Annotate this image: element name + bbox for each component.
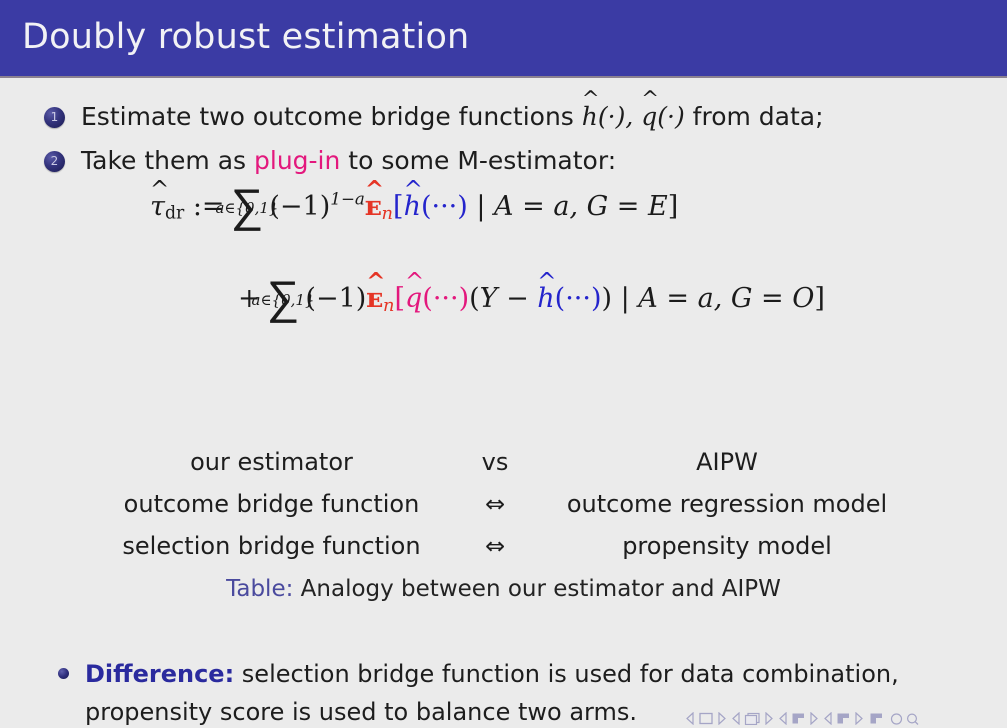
subsection-nav-group[interactable]	[779, 712, 818, 725]
slide-header-underline	[0, 76, 1007, 78]
expectation-symbol-2: ^ᴇ	[366, 283, 383, 314]
hat-accent: ^	[366, 271, 383, 294]
utility-nav-group[interactable]	[890, 712, 919, 725]
coefficient-exponent-1: 1−a	[330, 189, 365, 209]
subsection-forward-icon[interactable]	[809, 712, 818, 725]
doc-block-icon[interactable]	[869, 712, 884, 725]
frame-back-icon[interactable]	[732, 712, 741, 725]
difference-label: Difference:	[85, 660, 234, 688]
hat-accent: ^	[405, 271, 422, 294]
bracket-open-1: [	[393, 191, 404, 222]
bracket-close-2: ]	[814, 283, 825, 314]
h-hat-formula-2: ^h	[537, 283, 554, 314]
coefficient-1: (−1)	[269, 191, 330, 222]
Y-variable: Y	[480, 283, 498, 314]
coefficient-2: (−1)	[305, 283, 366, 314]
q-hat-symbol: ^q	[641, 100, 657, 134]
table-cell-right: propensity model	[551, 525, 903, 567]
presentation-slide: Doubly robust estimation 1 Estimate two …	[0, 0, 1007, 728]
enum-badge-1: 1	[44, 107, 65, 128]
bracket-close-1: ]	[668, 191, 679, 222]
expectation-subscript-1: n	[382, 203, 393, 224]
enumerated-item-2: 2 Take them as plug-in to some M-estimat…	[44, 144, 616, 178]
item2-suffix: to some M-estimator:	[340, 146, 616, 175]
section-nav-group[interactable]	[824, 712, 863, 725]
hat-accent: ^	[641, 89, 657, 110]
analogy-table: our estimator vs AIPW outcome bridge fun…	[0, 441, 1007, 567]
slide-back-icon[interactable]	[686, 712, 695, 725]
enumerated-item-1-text: Estimate two outcome bridge functions ^h…	[81, 100, 824, 134]
document-nav-group[interactable]	[869, 712, 884, 725]
summation-limit-1: a∈{0,1}	[215, 203, 278, 215]
condition-1: | A = a, G = E	[468, 191, 668, 222]
section-back-icon[interactable]	[824, 712, 833, 725]
item1-prefix: Estimate two outcome bridge functions	[81, 102, 582, 131]
difference-line-1: selection bridge function is used for da…	[234, 660, 899, 688]
table-cell-right: AIPW	[551, 441, 903, 483]
hat-accent: ^	[537, 271, 554, 294]
table-caption-spacer	[293, 576, 300, 602]
h-args-2: (···)	[555, 283, 602, 314]
table-row: outcome bridge function ⇔ outcome regres…	[104, 483, 903, 525]
condition-2: | A = a, G = O	[612, 283, 814, 314]
hat-accent: ^	[365, 179, 382, 202]
difference-line-2: propensity score is used to balance two …	[85, 698, 637, 726]
table-cell-left: our estimator	[104, 441, 439, 483]
table-caption-label: Table:	[226, 576, 293, 602]
frame-nav-group[interactable]	[732, 712, 773, 725]
plug-in-highlight: plug-in	[254, 146, 340, 175]
subsection-block-icon[interactable]	[791, 712, 806, 725]
h-args-1: (···)	[421, 191, 468, 222]
beamer-navigation-symbols[interactable]	[686, 712, 919, 725]
frame-forward-icon[interactable]	[764, 712, 773, 725]
slide-forward-icon[interactable]	[717, 712, 726, 725]
item1-q-args: (·)	[657, 102, 684, 131]
back-to-start-icon[interactable]	[890, 712, 903, 725]
item1-suffix: from data;	[685, 102, 824, 131]
find-icon[interactable]	[906, 712, 919, 725]
table-cell-right: outcome regression model	[551, 483, 903, 525]
enumerated-item-1: 1 Estimate two outcome bridge functions …	[44, 100, 824, 134]
item1-h-args: (·),	[598, 102, 641, 131]
hat-accent: ^	[150, 179, 165, 202]
summation-symbol-1: ∑a∈{0,1}	[231, 188, 264, 224]
table-cell-mid: ⇔	[439, 483, 551, 525]
section-forward-icon[interactable]	[854, 712, 863, 725]
h-hat-symbol: ^h	[582, 100, 598, 134]
slide-page-icon[interactable]	[698, 712, 714, 725]
bracket-open-2: [	[394, 283, 405, 314]
q-args: (···)	[422, 283, 469, 314]
frame-stack-icon[interactable]	[744, 712, 761, 725]
subsection-back-icon[interactable]	[779, 712, 788, 725]
table-cell-mid: ⇔	[439, 525, 551, 567]
table-cell-left: selection bridge function	[104, 525, 439, 567]
q-hat-formula: ^q	[405, 283, 422, 314]
expectation-symbol-1: ^ᴇ	[365, 191, 382, 222]
table-cell-left: outcome bridge function	[104, 483, 439, 525]
table-row: selection bridge function ⇔ propensity m…	[104, 525, 903, 567]
minus-operator: −	[497, 283, 537, 314]
table-caption: Table: Analogy between our estimator and…	[0, 576, 1007, 602]
slide-title: Doubly robust estimation	[22, 17, 469, 57]
analogy-table-grid: our estimator vs AIPW outcome bridge fun…	[104, 441, 903, 567]
tau-hat-symbol: ^τ	[150, 191, 165, 222]
slide-nav-group[interactable]	[686, 712, 726, 725]
item2-prefix: Take them as	[81, 146, 254, 175]
table-caption-text: Analogy between our estimator and AIPW	[301, 576, 781, 602]
mid-paren-close: )	[602, 283, 613, 314]
h-hat-formula-1: ^h	[404, 191, 421, 222]
summation-limit-2: a∈{0,1}	[252, 295, 315, 307]
summation-symbol-2: ∑a∈{0,1}	[267, 280, 300, 316]
mid-paren-open: (	[469, 283, 480, 314]
tau-subscript: dr	[165, 203, 184, 223]
hat-accent: ^	[582, 89, 598, 110]
section-block-icon[interactable]	[836, 712, 851, 725]
table-row: our estimator vs AIPW	[104, 441, 903, 483]
table-cell-mid: vs	[439, 441, 551, 483]
formula-line-2: +∑a∈{0,1}(−1)^ᴇn[^q(···)(Y − ^h(···)) | …	[238, 280, 825, 316]
enumerated-item-2-text: Take them as plug-in to some M-estimator…	[81, 144, 616, 178]
expectation-subscript-2: n	[383, 295, 394, 316]
enum-badge-2: 2	[44, 151, 65, 172]
bullet-dot-icon	[58, 668, 69, 679]
formula-line-1: ^τdr :=∑a∈{0,1}(−1)1−a^ᴇn[^h(···) | A = …	[150, 188, 678, 224]
hat-accent: ^	[404, 179, 421, 202]
